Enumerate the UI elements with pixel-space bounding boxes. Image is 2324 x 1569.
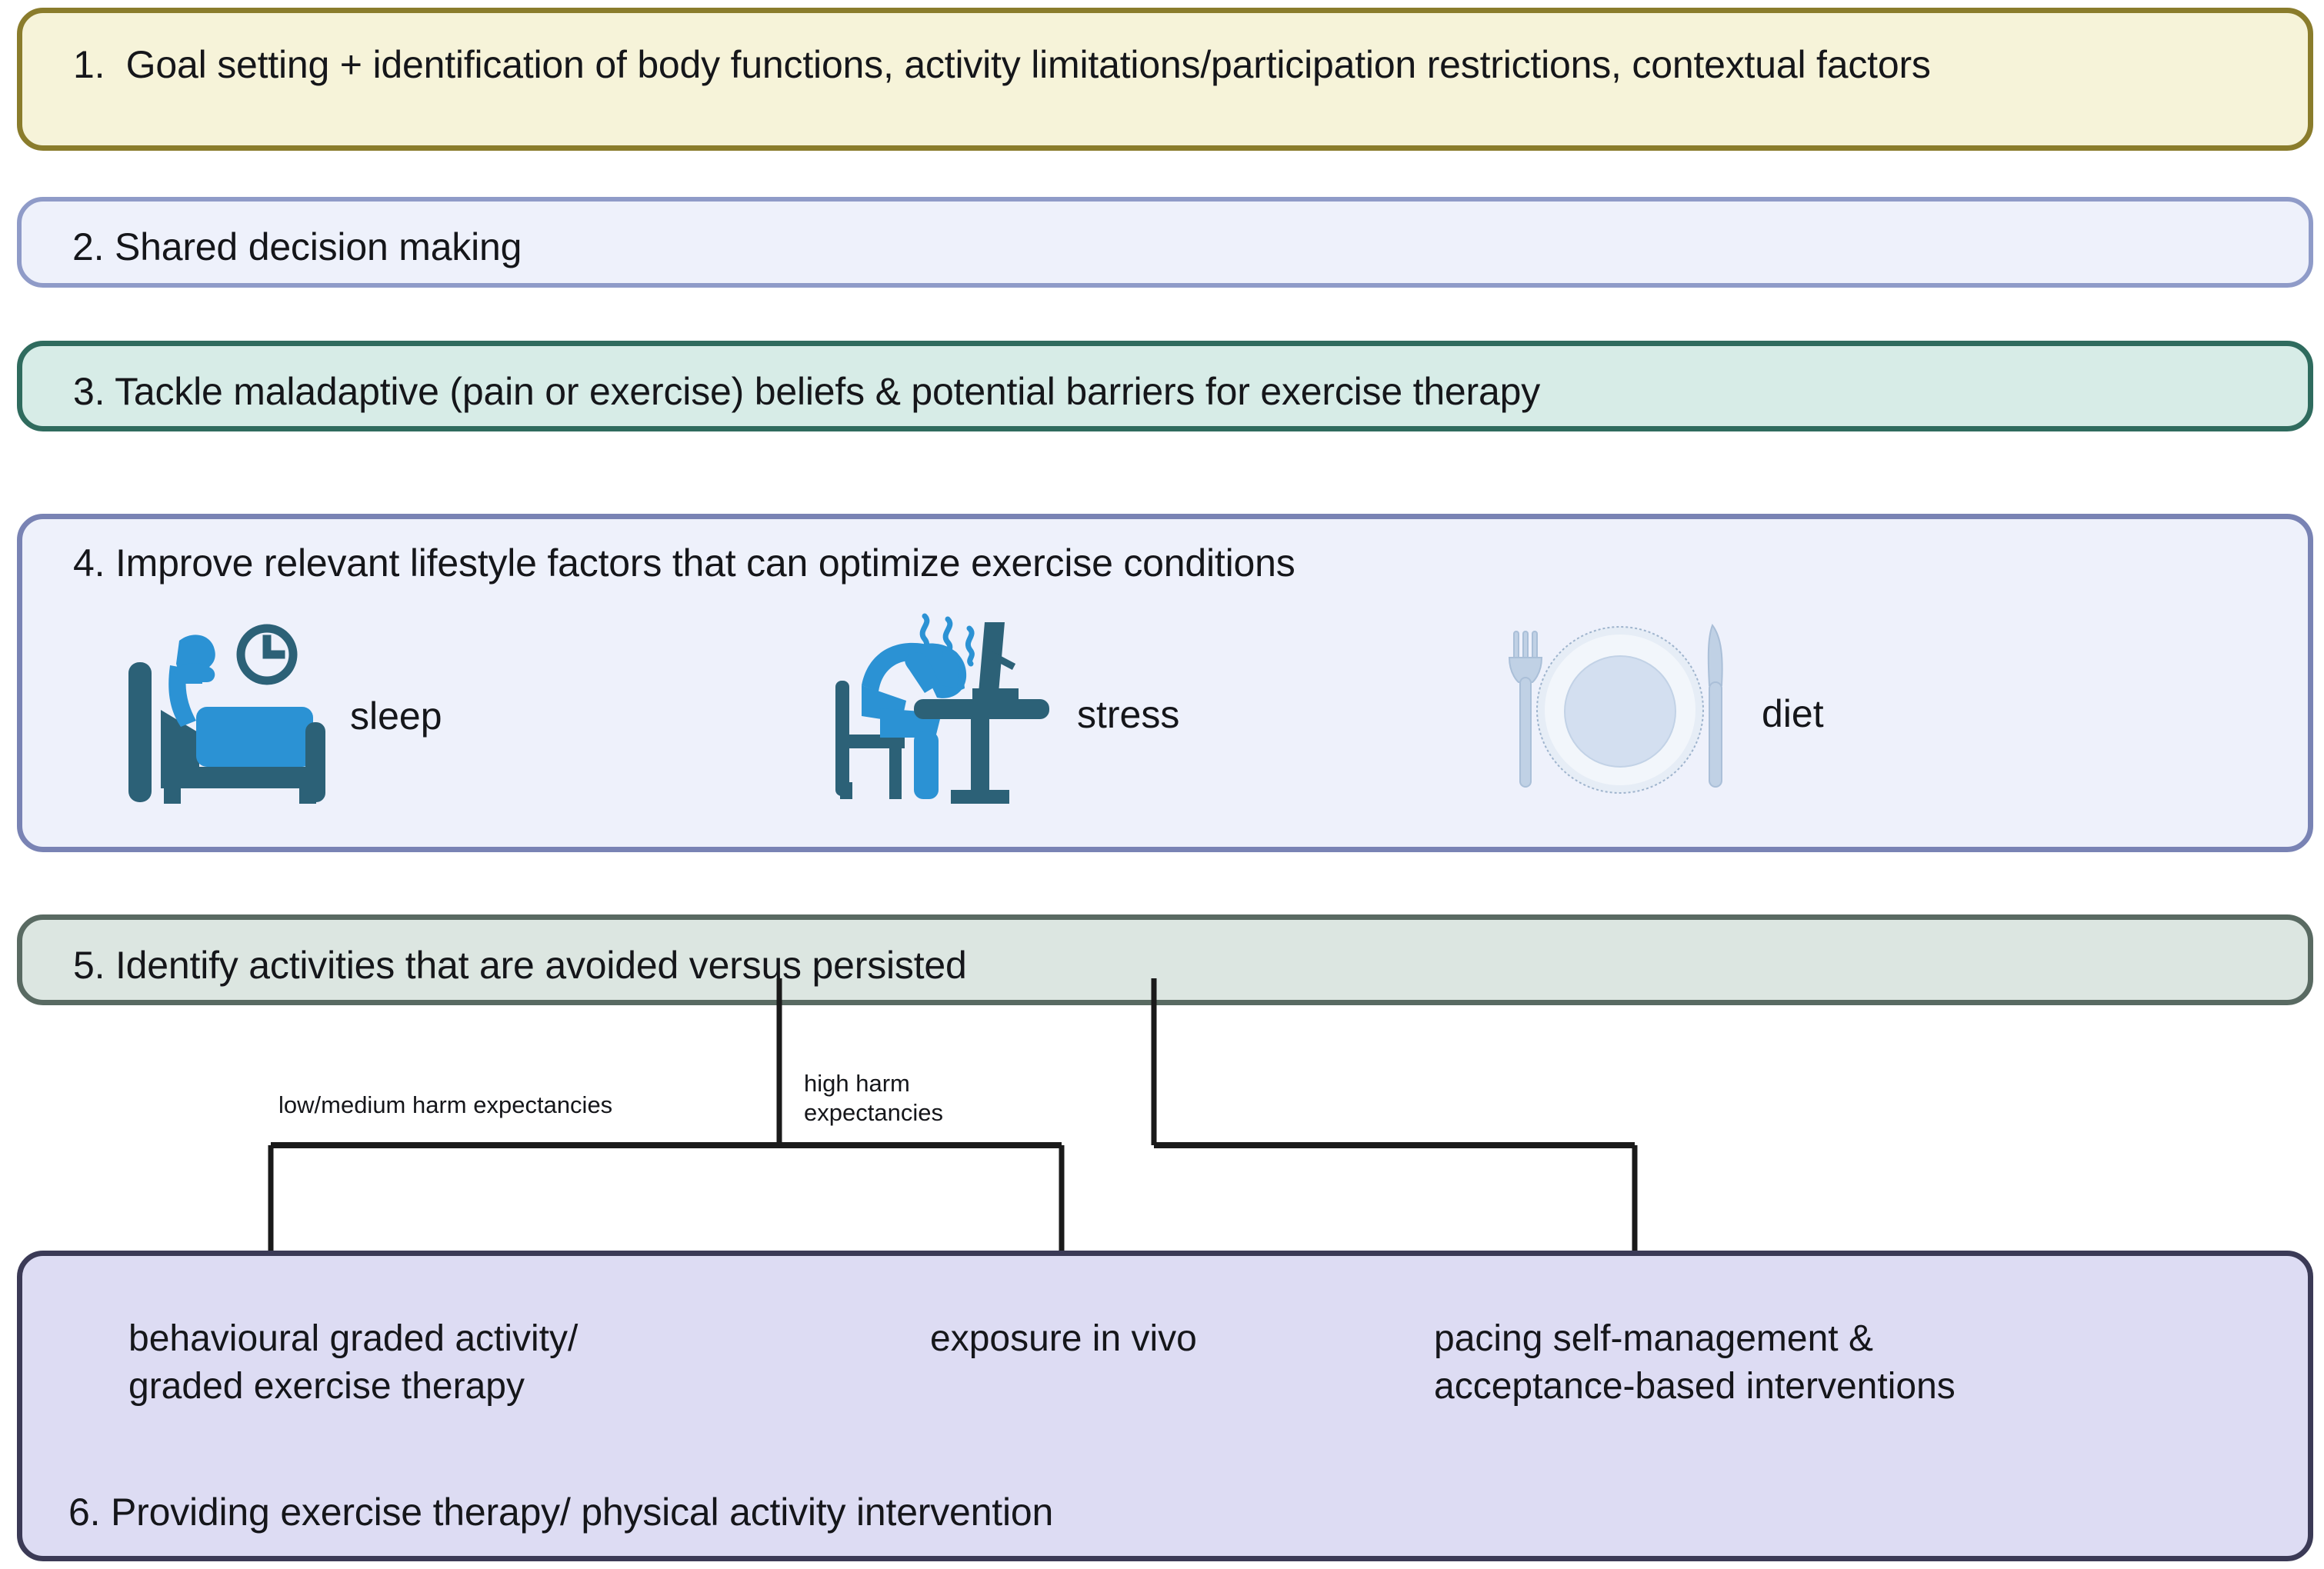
lifestyle-factor-row: sleep [22,604,2308,858]
step-5-text: 5. Identify activities that are avoided … [73,942,967,988]
edge-label-low-medium-harm: low/medium harm expectancies [278,1091,612,1120]
lifestyle-factor-sleep: sleep [122,618,442,814]
edge-label-high-harm: high harm expectancies [804,1069,943,1128]
lifestyle-label-stress: stress [1077,692,1179,737]
step-box-2: 2. Shared decision making [17,197,2313,288]
step-6-text: 6. Providing exercise therapy/ physical … [68,1489,1053,1535]
step-4-text: 4. Improve relevant lifestyle factors th… [73,540,1295,586]
plate-fork-knife-diet-icon [1488,611,1742,815]
lifestyle-label-sleep: sleep [350,694,442,738]
bed-clock-sleep-icon [122,618,330,814]
lifestyle-label-diet: diet [1762,691,1824,736]
lifestyle-factor-diet: diet [1488,611,1824,815]
step-1-text: 1. Goal setting + identification of body… [73,41,2324,88]
step-box-6: behavioural graded activity/ graded exer… [17,1251,2313,1561]
step-box-3: 3. Tackle maladaptive (pain or exercise)… [17,341,2313,431]
step-3-text: 3. Tackle maladaptive (pain or exercise)… [73,368,1540,415]
branch-label-exposure-in-vivo: exposure in vivo [930,1315,1197,1363]
branch-label-graded-activity: behavioural graded activity/ graded exer… [128,1315,578,1411]
lifestyle-factor-stress: stress [834,608,1179,820]
person-desk-stress-icon [834,608,1057,820]
step-box-1: 1. Goal setting + identification of body… [17,8,2313,151]
branch-label-pacing-self-management: pacing self-management & acceptance-base… [1434,1315,1956,1411]
step-2-text: 2. Shared decision making [72,224,522,270]
step-box-5: 5. Identify activities that are avoided … [17,914,2313,1005]
step-box-4: 4. Improve relevant lifestyle factors th… [17,514,2313,852]
diagram-canvas: 1. Goal setting + identification of body… [0,0,2324,1569]
